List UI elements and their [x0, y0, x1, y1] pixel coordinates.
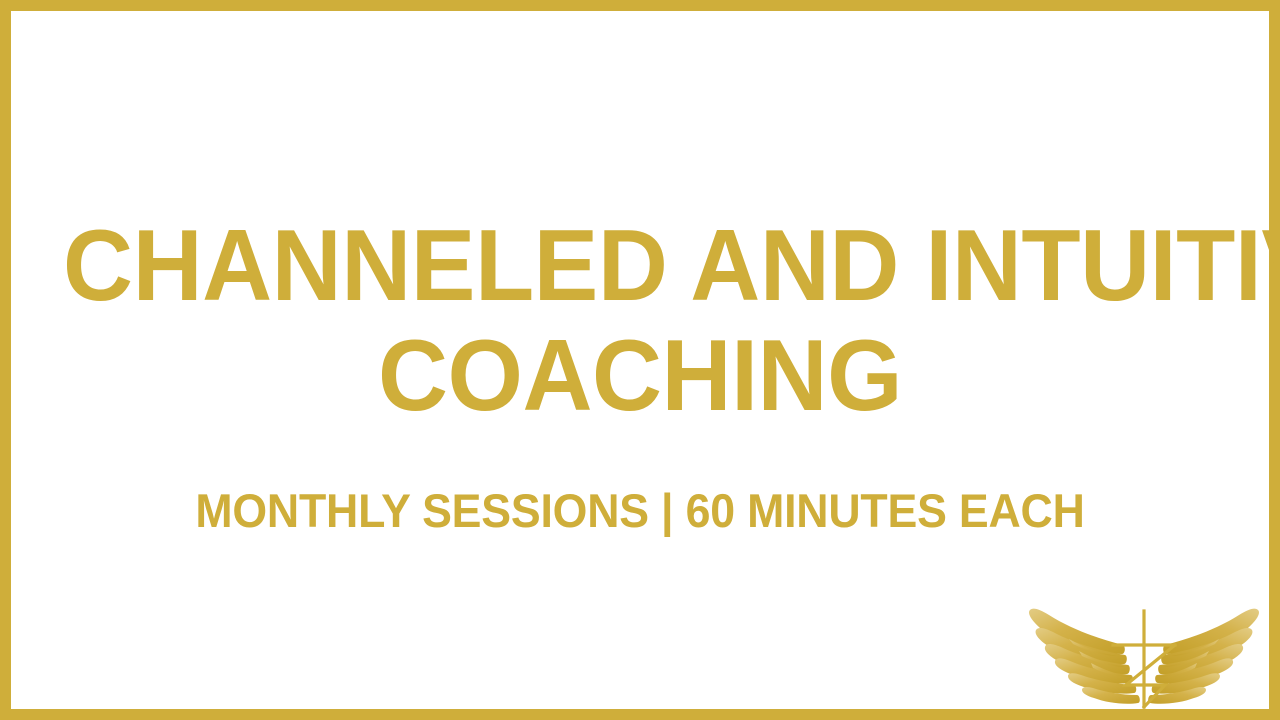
slide-canvas: CHANNELED AND INTUITIVE COACHING MONTHLY… [0, 0, 1280, 720]
subtitle-text: MONTHLY SESSIONS | 60 MINUTES EACH [42, 485, 1237, 537]
slide-inner-surface: CHANNELED AND INTUITIVE COACHING MONTHLY… [11, 11, 1269, 709]
page-title: CHANNELED AND INTUITIVE COACHING [11, 211, 1269, 431]
right-wing-icon [1148, 609, 1259, 704]
title-line-1: CHANNELED AND INTUITIVE [63, 211, 1217, 321]
left-wing-icon [1029, 609, 1140, 704]
winged-monogram-logo-icon [1013, 599, 1275, 717]
winged-monogram-logo [1013, 599, 1275, 717]
title-line-2: COACHING [63, 321, 1217, 431]
